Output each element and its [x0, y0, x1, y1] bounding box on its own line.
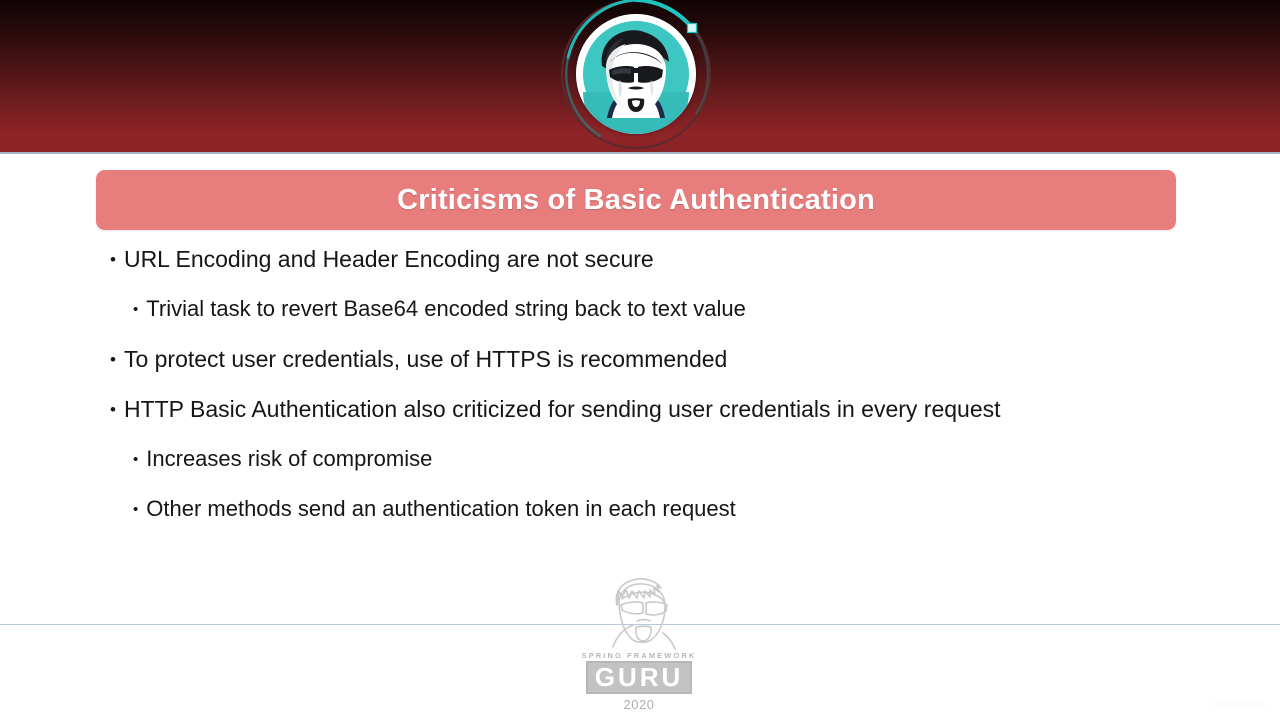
bullet-item: • Other methods send an authentication t… [110, 496, 1220, 546]
guru-watermark-icon [591, 575, 687, 653]
bullet-text: Trivial task to revert Base64 encoded st… [146, 296, 746, 321]
bullet-text: Other methods send an authentication tok… [146, 496, 736, 521]
guru-avatar [556, 0, 716, 154]
footer-year: 2020 [573, 697, 705, 712]
bullet-marker-icon: • [110, 246, 116, 268]
slide-body-bullet-list: • URL Encoding and Header Encoding are n… [110, 246, 1220, 546]
footer-brand-logo: SPRING FRAMEWORK GURU 2020 [573, 575, 705, 700]
bullet-text: Increases risk of compromise [146, 446, 432, 471]
bullet-text: HTTP Basic Authentication also criticize… [124, 396, 1001, 422]
bullet-item: • Trivial task to revert Base64 encoded … [110, 296, 1220, 346]
header-divider [0, 152, 1280, 154]
bullet-marker-icon: • [133, 496, 138, 517]
udemy-watermark: Ʉ Udemy [1214, 697, 1266, 712]
bullet-item: • To protect user credentials, use of HT… [110, 346, 1220, 396]
bullet-marker-icon: • [110, 346, 116, 368]
guru-avatar-face-icon [576, 14, 696, 134]
bullet-marker-icon: • [133, 296, 138, 317]
slide-header-banner [0, 0, 1280, 152]
udemy-watermark-label: Udemy [1228, 699, 1266, 711]
udemy-logo-icon: Ʉ [1214, 697, 1223, 712]
bullet-marker-icon: • [133, 446, 138, 467]
slide: Criticisms of Basic Authentication • URL… [0, 0, 1280, 720]
slide-title-bar: Criticisms of Basic Authentication [96, 170, 1176, 230]
footer-brand-name: GURU [586, 661, 693, 694]
bullet-text: URL Encoding and Header Encoding are not… [124, 246, 654, 272]
bullet-item: • HTTP Basic Authentication also critici… [110, 396, 1220, 446]
page-title: Criticisms of Basic Authentication [397, 184, 875, 217]
footer-brand-tagline: SPRING FRAMEWORK [573, 651, 705, 660]
bullet-marker-icon: • [110, 396, 116, 418]
bullet-item: • Increases risk of compromise [110, 446, 1220, 496]
bullet-text: To protect user credentials, use of HTTP… [124, 346, 727, 372]
bullet-item: • URL Encoding and Header Encoding are n… [110, 246, 1220, 296]
